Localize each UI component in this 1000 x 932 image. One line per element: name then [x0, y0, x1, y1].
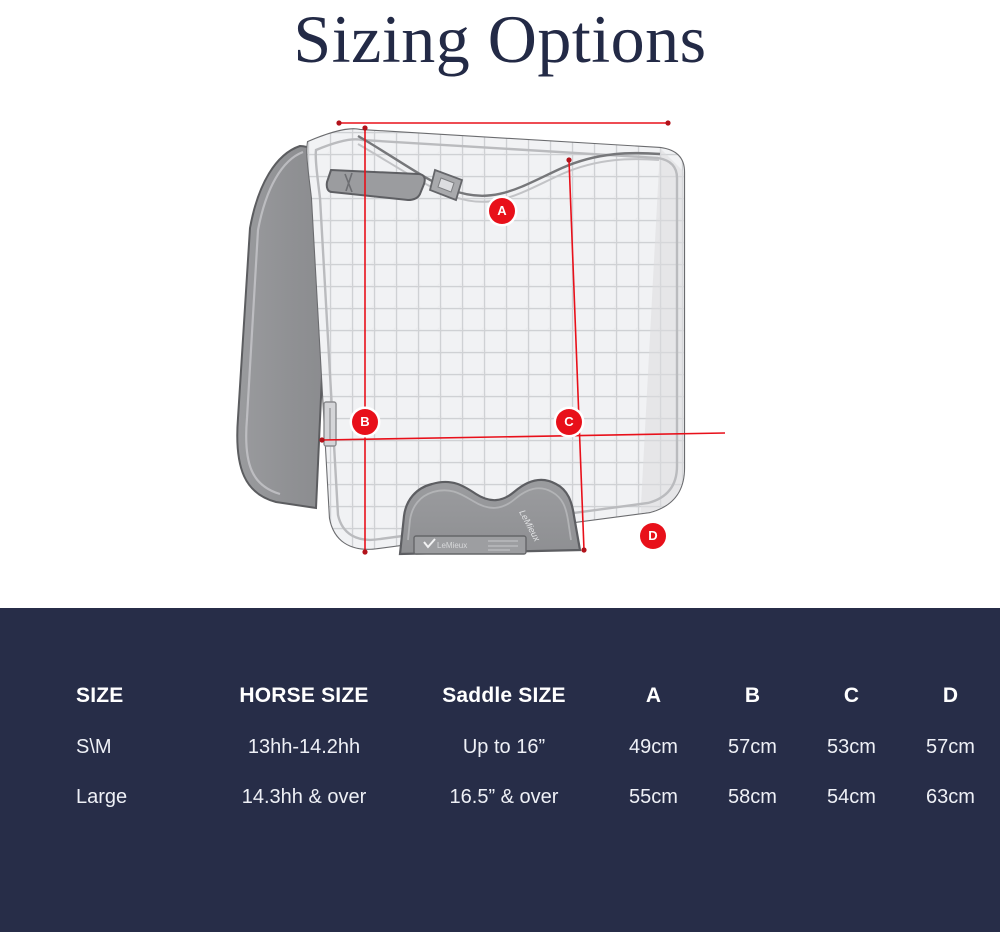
column-header-horse-size: HORSE SIZE: [204, 670, 404, 722]
sizing-options-page: Sizing Options: [0, 0, 1000, 932]
pad-body: LeMieux LeMieux: [300, 128, 700, 558]
column-header-c: C: [802, 670, 901, 722]
cell-size: S\M: [0, 722, 204, 772]
care-label-brand: LeMieux: [437, 541, 467, 550]
cell-saddle-size: 16.5” & over: [404, 772, 604, 822]
saddle-pad-illustration: LeMieux LeMieux: [0, 88, 1000, 608]
measure-badge-c: C: [556, 409, 582, 435]
cell-horse-size: 14.3hh & over: [204, 772, 404, 822]
column-header-saddle-size: Saddle SIZE: [404, 670, 604, 722]
measure-badge-a: A: [489, 198, 515, 224]
measure-badge-d: D: [640, 523, 666, 549]
sizing-table-panel: SIZE HORSE SIZE Saddle SIZE A B C D S\M …: [0, 608, 1000, 932]
cell-size: Large: [0, 772, 204, 822]
table-row: S\M 13hh-14.2hh Up to 16” 49cm 57cm 53cm…: [0, 722, 1000, 772]
column-header-d: D: [901, 670, 1000, 722]
cell-c: 53cm: [802, 722, 901, 772]
column-header-size: SIZE: [0, 670, 204, 722]
table-row: Large 14.3hh & over 16.5” & over 55cm 58…: [0, 772, 1000, 822]
page-title: Sizing Options: [0, 0, 1000, 82]
sizing-table: SIZE HORSE SIZE Saddle SIZE A B C D S\M …: [0, 670, 1000, 822]
saddle-pad-diagram: LeMieux LeMieux: [0, 88, 1000, 608]
measure-badge-b: B: [352, 409, 378, 435]
cell-b: 57cm: [703, 722, 802, 772]
cell-d: 63cm: [901, 772, 1000, 822]
cell-b: 58cm: [703, 772, 802, 822]
cell-d: 57cm: [901, 722, 1000, 772]
cell-saddle-size: Up to 16”: [404, 722, 604, 772]
cell-a: 55cm: [604, 772, 703, 822]
column-header-a: A: [604, 670, 703, 722]
cell-horse-size: 13hh-14.2hh: [204, 722, 404, 772]
cell-c: 54cm: [802, 772, 901, 822]
table-header-row: SIZE HORSE SIZE Saddle SIZE A B C D: [0, 670, 1000, 722]
cell-a: 49cm: [604, 722, 703, 772]
column-header-b: B: [703, 670, 802, 722]
